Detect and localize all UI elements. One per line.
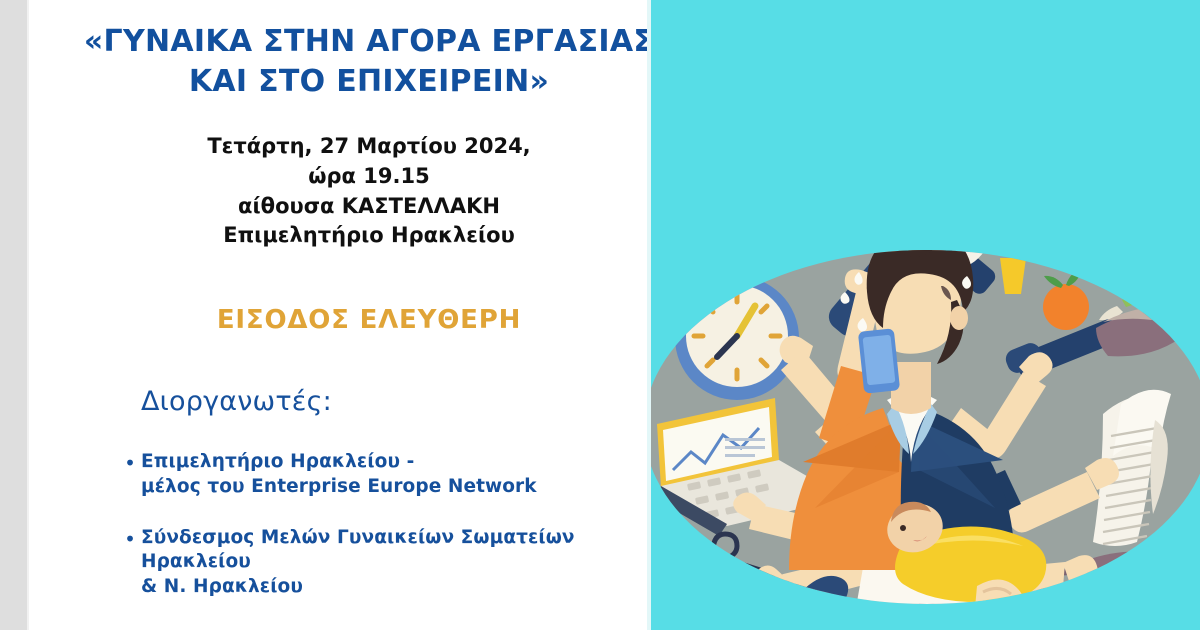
list-item: • Επιμελητήριο Ηρακλείου - μέλος του Ent… — [119, 450, 684, 500]
title-line-2: ΚΑΙ ΣΤΟ ΕΠΙΧΕΙΡΕΙΝ» — [58, 62, 680, 102]
organizer-2: Σύνδεσμος Μελών Γυναικείων Σωματείων Ηρα… — [141, 526, 684, 600]
page-title: «ΓΥΝΑΙΚΑ ΣΤΗΝ ΑΓΟΡΑ ΕΡΓΑΣΙΑΣ ΚΑΙ ΣΤΟ ΕΠΙ… — [58, 22, 680, 101]
organizer-1: Επιμελητήριο Ηρακλείου - μέλος του Enter… — [141, 450, 537, 500]
event-time: ώρα 19.15 — [58, 162, 680, 192]
free-admission-text: ΕΙΣΟΔΟΣ ΕΛΕΥΘΕΡΗ — [58, 305, 680, 335]
text-panel: «ΓΥΝΑΙΚΑ ΣΤΗΝ ΑΓΟΡΑ ΕΡΓΑΣΙΑΣ ΚΑΙ ΣΤΟ ΕΠΙ… — [29, 0, 651, 630]
woman-shoe — [773, 576, 848, 630]
organizer-1-line-1: Επιμελητήριο Ηρακλείου - — [141, 450, 537, 475]
organizers-heading: Διοργανωτές: — [141, 386, 332, 417]
title-line-1: «ΓΥΝΑΙΚΑ ΣΤΗΝ ΑΓΟΡΑ ΕΡΓΑΣΙΑΣ — [58, 22, 680, 62]
wall-clock — [675, 276, 799, 400]
illustration-panel — [651, 0, 1200, 630]
page-gutter — [0, 0, 27, 630]
bullet-icon: • — [119, 526, 141, 551]
event-hall: αίθουσα ΚΑΣΤΕΛΛΑΚΗ — [58, 192, 680, 222]
organizer-1-line-2: μέλος του Enterprise Europe Network — [141, 475, 537, 500]
organizer-2-line-1: Σύνδεσμος Μελών Γυναικείων Σωματείων Ηρα… — [141, 526, 684, 576]
organizers-list: • Επιμελητήριο Ηρακλείου - μέλος του Ent… — [119, 450, 684, 626]
list-item: • Σύνδεσμος Μελών Γυναικείων Σωματείων Η… — [119, 526, 684, 600]
organizer-2-line-2: & Ν. Ηρακλείου — [141, 575, 684, 600]
smartphone — [858, 328, 900, 393]
event-venue: Επιμελητήριο Ηρακλείου — [58, 221, 680, 251]
bullet-icon: • — [119, 450, 141, 475]
event-date: Τετάρτη, 27 Μαρτίου 2024, — [58, 132, 680, 162]
event-datetime-block: Τετάρτη, 27 Μαρτίου 2024, ώρα 19.15 αίθο… — [58, 132, 680, 251]
event-poster: «ΓΥΝΑΙΚΑ ΣΤΗΝ ΑΓΟΡΑ ΕΡΓΑΣΙΑΣ ΚΑΙ ΣΤΟ ΕΠΙ… — [0, 0, 1200, 630]
multitasking-woman-illustration — [651, 0, 1200, 630]
